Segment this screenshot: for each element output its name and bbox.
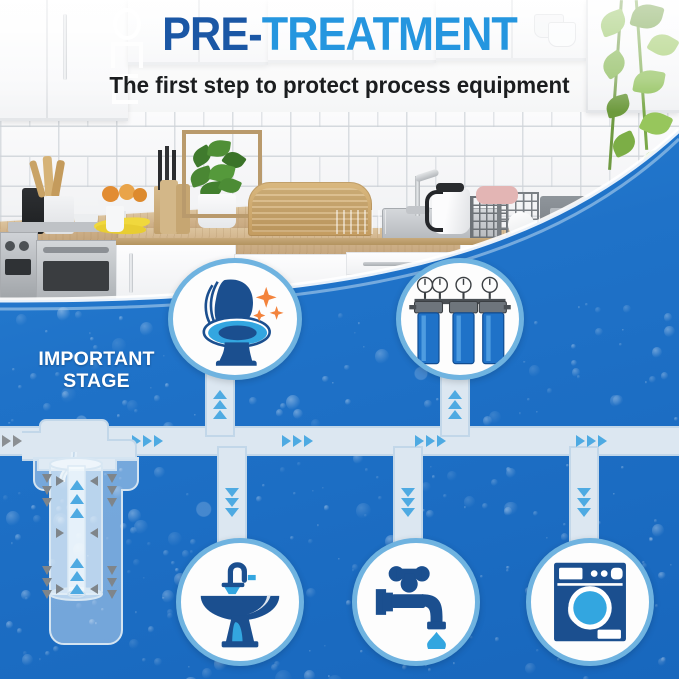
arrow-right-icon bbox=[415, 435, 424, 447]
arrow-up-icon bbox=[448, 410, 462, 419]
water-droplet bbox=[422, 509, 424, 512]
water-droplet bbox=[670, 564, 673, 567]
water-droplet bbox=[90, 337, 94, 342]
washing-machine-icon bbox=[544, 556, 636, 648]
flow-arrows-drop-basin bbox=[225, 488, 239, 517]
arrow-right-icon bbox=[13, 435, 22, 447]
water-droplet bbox=[119, 316, 123, 320]
arrow-down-icon bbox=[401, 488, 415, 497]
water-droplet bbox=[506, 566, 510, 570]
water-droplet bbox=[43, 403, 51, 411]
water-droplet bbox=[175, 568, 179, 572]
fixture-bubble-washing-machine[interactable] bbox=[526, 538, 654, 666]
water-droplet bbox=[527, 398, 530, 401]
water-droplet bbox=[249, 397, 257, 406]
water-droplet bbox=[546, 537, 548, 539]
water-droplet bbox=[470, 636, 472, 639]
page-subtitle: The first step to protect process equipm… bbox=[17, 72, 662, 99]
water-droplet bbox=[6, 621, 14, 629]
water-droplet bbox=[3, 495, 8, 501]
water-droplet bbox=[376, 476, 379, 479]
water-droplet bbox=[610, 395, 621, 406]
water-droplet bbox=[280, 467, 286, 473]
water-droplet bbox=[402, 665, 407, 671]
sparkle-icon bbox=[256, 287, 277, 308]
pressure-gauge-icon bbox=[418, 277, 498, 292]
water-droplet bbox=[308, 539, 313, 544]
important-stage-line2: STAGE bbox=[14, 371, 179, 393]
water-droplet bbox=[353, 453, 363, 463]
arrow-down-icon bbox=[577, 508, 591, 517]
water-droplet bbox=[89, 332, 91, 334]
triple-filter-housing-icon bbox=[409, 270, 511, 368]
sink-drain-board bbox=[336, 210, 386, 234]
water-droplet bbox=[533, 511, 538, 516]
fixture-bubble-wash-basin[interactable] bbox=[176, 538, 304, 666]
water-droplet bbox=[566, 464, 569, 467]
water-droplet bbox=[171, 561, 174, 565]
water-droplet bbox=[322, 487, 324, 490]
arrow-down-icon bbox=[577, 488, 591, 497]
faucet-water-drop-icon bbox=[369, 555, 463, 649]
water-droplet bbox=[483, 416, 493, 426]
water-droplet bbox=[293, 409, 303, 420]
water-droplet bbox=[360, 650, 363, 653]
water-droplet bbox=[11, 419, 14, 422]
water-droplet bbox=[365, 468, 369, 472]
arrow-right-icon bbox=[437, 435, 446, 447]
water-droplet bbox=[563, 523, 566, 526]
flow-arrows-riser-filter bbox=[448, 390, 462, 419]
water-droplet bbox=[432, 475, 435, 478]
water-droplet bbox=[142, 658, 146, 662]
water-droplet bbox=[421, 482, 431, 492]
water-droplet bbox=[271, 664, 278, 672]
water-droplet bbox=[324, 645, 326, 647]
water-droplet bbox=[619, 343, 623, 347]
important-stage-line1: IMPORTANT bbox=[14, 349, 179, 371]
water-droplet bbox=[11, 542, 13, 544]
fixture-bubble-tap[interactable] bbox=[352, 538, 480, 666]
water-droplet bbox=[428, 668, 432, 672]
water-droplet bbox=[363, 346, 365, 348]
water-droplet bbox=[324, 505, 330, 511]
flow-arrows-segment-2 bbox=[282, 435, 313, 447]
water-droplet bbox=[447, 471, 457, 482]
arrow-up-icon bbox=[213, 400, 227, 409]
oven-range bbox=[0, 232, 38, 300]
water-droplet bbox=[655, 604, 658, 607]
water-droplet bbox=[338, 558, 340, 560]
infographic-canvas: PRE-TREATMENT The first step to protect … bbox=[0, 0, 679, 679]
water-droplet bbox=[194, 414, 196, 416]
water-droplet bbox=[571, 344, 577, 350]
cutting-board-left bbox=[8, 222, 100, 232]
water-droplet bbox=[430, 466, 433, 469]
page-title-part1: PRE- bbox=[162, 7, 262, 60]
arrow-right-icon bbox=[576, 435, 585, 447]
water-droplet bbox=[534, 321, 538, 325]
water-droplet bbox=[378, 496, 382, 500]
water-droplet bbox=[16, 314, 28, 326]
water-droplet bbox=[317, 524, 319, 526]
water-droplet bbox=[424, 400, 432, 408]
water-droplet bbox=[190, 550, 194, 554]
water-droplet bbox=[354, 332, 356, 335]
water-droplet bbox=[523, 361, 526, 364]
water-droplet bbox=[536, 411, 539, 414]
water-droplet bbox=[436, 398, 440, 402]
water-droplet bbox=[154, 658, 162, 666]
water-droplet bbox=[286, 395, 300, 410]
water-droplet bbox=[122, 400, 128, 406]
water-droplet bbox=[188, 666, 190, 668]
water-droplet bbox=[262, 484, 266, 488]
water-droplet bbox=[309, 650, 311, 652]
water-droplet bbox=[658, 572, 665, 580]
arrow-right-icon bbox=[587, 435, 596, 447]
water-droplet bbox=[547, 388, 553, 394]
arrow-right-icon bbox=[293, 435, 302, 447]
water-droplet bbox=[664, 326, 675, 337]
water-droplet bbox=[464, 506, 467, 509]
water-droplet bbox=[622, 329, 624, 331]
page-title-part2: TREATMENT bbox=[262, 7, 517, 60]
arrow-up-icon bbox=[448, 400, 462, 409]
arrow-down-icon bbox=[225, 488, 239, 497]
water-droplet bbox=[15, 534, 21, 541]
water-droplet bbox=[443, 494, 447, 498]
flow-arrows-segment-4 bbox=[576, 435, 607, 447]
water-droplet bbox=[168, 532, 182, 547]
water-droplet bbox=[8, 422, 11, 425]
water-droplet bbox=[140, 322, 154, 336]
water-droplet bbox=[190, 539, 196, 545]
water-drop-icon bbox=[427, 632, 446, 649]
arrow-right-icon bbox=[304, 435, 313, 447]
arrow-down-icon bbox=[401, 508, 415, 517]
water-droplet bbox=[571, 360, 577, 366]
arrow-right-icon bbox=[426, 435, 435, 447]
water-droplet bbox=[167, 613, 173, 619]
water-droplet bbox=[202, 668, 212, 679]
sparkle-icon bbox=[270, 306, 284, 320]
water-droplet bbox=[583, 676, 590, 679]
water-droplet bbox=[297, 462, 301, 466]
small-cup bbox=[106, 206, 124, 232]
water-droplet bbox=[536, 649, 539, 652]
water-droplet bbox=[328, 675, 331, 678]
water-droplet bbox=[649, 376, 656, 384]
flow-arrows-drop-washer bbox=[577, 488, 591, 517]
water-droplet bbox=[525, 663, 536, 674]
water-droplet bbox=[623, 305, 631, 314]
water-droplet bbox=[650, 538, 653, 541]
water-droplet bbox=[345, 399, 351, 405]
water-droplet bbox=[127, 400, 139, 412]
arrow-up-icon bbox=[213, 410, 227, 419]
water-droplet bbox=[482, 503, 488, 509]
water-droplet bbox=[18, 492, 21, 495]
flow-arrows-drop-tap bbox=[401, 488, 415, 517]
water-droplet bbox=[597, 521, 601, 525]
water-droplet bbox=[57, 307, 70, 321]
fixture-bubble-toilet[interactable] bbox=[168, 258, 302, 380]
water-droplet bbox=[312, 490, 314, 492]
pre-filter-cartridge-housing bbox=[22, 418, 167, 653]
water-droplet bbox=[654, 519, 658, 523]
water-droplet bbox=[39, 658, 41, 660]
water-droplet bbox=[480, 575, 483, 578]
arrow-down-icon bbox=[225, 498, 239, 507]
water-droplet bbox=[519, 412, 521, 415]
water-droplet bbox=[495, 637, 499, 642]
water-droplet bbox=[338, 313, 344, 319]
water-droplet bbox=[645, 381, 648, 384]
water-droplet bbox=[561, 533, 569, 541]
water-droplet bbox=[356, 503, 371, 519]
water-droplet bbox=[276, 409, 283, 417]
water-droplet bbox=[652, 524, 665, 537]
flow-arrows-riser-toilet bbox=[213, 390, 227, 419]
water-droplet bbox=[346, 600, 351, 606]
water-droplet bbox=[6, 511, 20, 526]
water-droplet bbox=[504, 507, 513, 516]
water-droplet bbox=[506, 468, 516, 478]
water-droplet bbox=[506, 569, 510, 573]
water-droplet bbox=[358, 322, 361, 325]
water-droplet bbox=[322, 376, 328, 383]
water-droplet bbox=[585, 303, 588, 306]
water-droplet bbox=[664, 313, 673, 322]
water-droplet bbox=[595, 307, 601, 313]
toilet-icon bbox=[183, 271, 287, 367]
water-droplet bbox=[306, 588, 316, 598]
water-droplet bbox=[674, 417, 679, 422]
water-droplet bbox=[75, 311, 82, 318]
water-droplet bbox=[256, 496, 262, 502]
arrow-up-icon bbox=[448, 390, 462, 399]
water-droplet bbox=[290, 536, 294, 540]
arrow-right-icon bbox=[282, 435, 291, 447]
water-droplet bbox=[154, 395, 160, 402]
water-droplet bbox=[453, 662, 456, 665]
water-droplet bbox=[621, 466, 624, 469]
water-droplet bbox=[426, 510, 434, 518]
arrow-right-icon bbox=[2, 435, 11, 447]
water-droplet bbox=[658, 658, 666, 667]
water-droplet bbox=[352, 564, 358, 571]
water-droplet bbox=[22, 654, 33, 666]
fixture-bubble-filter-housings[interactable] bbox=[396, 258, 524, 380]
water-droplet bbox=[529, 365, 541, 378]
water-droplet bbox=[304, 670, 315, 679]
water-droplet bbox=[613, 493, 615, 495]
flow-arrows-segment-3 bbox=[415, 435, 446, 447]
page-title: PRE-TREATMENT bbox=[27, 10, 652, 57]
water-droplet bbox=[182, 550, 189, 558]
water-droplet bbox=[293, 492, 296, 495]
water-droplet bbox=[375, 349, 390, 364]
water-droplet bbox=[344, 365, 350, 371]
important-stage-label: IMPORTANT STAGE bbox=[14, 349, 179, 393]
water-droplet bbox=[45, 330, 48, 333]
water-droplet bbox=[578, 306, 581, 309]
water-droplet bbox=[491, 479, 498, 486]
dishwasher-left bbox=[36, 240, 118, 300]
arrow-down-icon bbox=[401, 498, 415, 507]
water-droplet bbox=[332, 382, 334, 384]
arrow-right-icon bbox=[598, 435, 607, 447]
water-droplet bbox=[661, 372, 668, 380]
water-droplet bbox=[275, 670, 292, 679]
arrow-up-icon bbox=[213, 390, 227, 399]
water-droplet bbox=[652, 347, 662, 358]
arrow-down-icon bbox=[225, 508, 239, 517]
pink-towel bbox=[476, 186, 518, 204]
water-droplet bbox=[186, 493, 189, 496]
pedestal-sink-icon bbox=[192, 554, 288, 650]
arrow-down-icon bbox=[577, 498, 591, 507]
electric-kettle bbox=[432, 188, 470, 234]
water-droplet bbox=[595, 328, 603, 336]
